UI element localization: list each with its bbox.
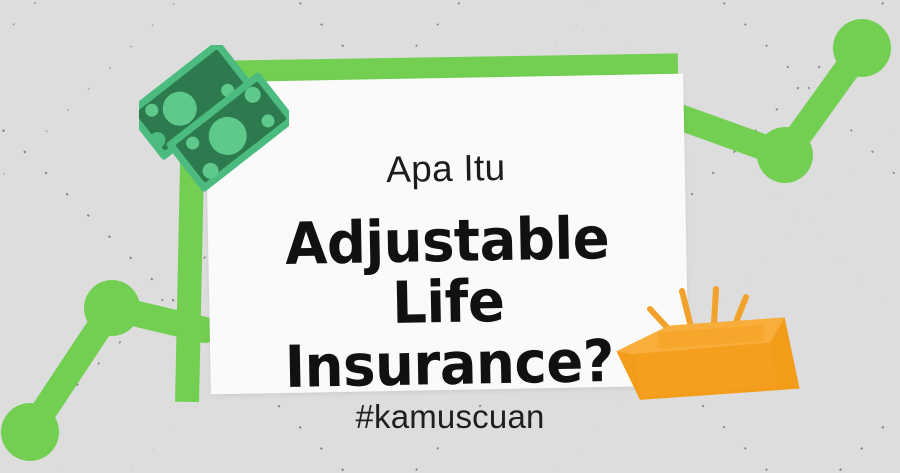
hashtag-text: #kamuscuan xyxy=(0,398,900,436)
headline-line-1: Adjustable Life xyxy=(285,204,610,337)
headline-line-2: Insurance? xyxy=(224,330,674,400)
gold-bar-icon xyxy=(616,283,801,403)
banknotes-icon xyxy=(139,45,289,195)
page-title: Adjustable Life Insurance? xyxy=(222,207,675,400)
eyebrow-text: Apa Itu xyxy=(386,149,506,188)
poster-canvas: Apa Itu Adjustable Life Insurance? xyxy=(0,0,900,473)
